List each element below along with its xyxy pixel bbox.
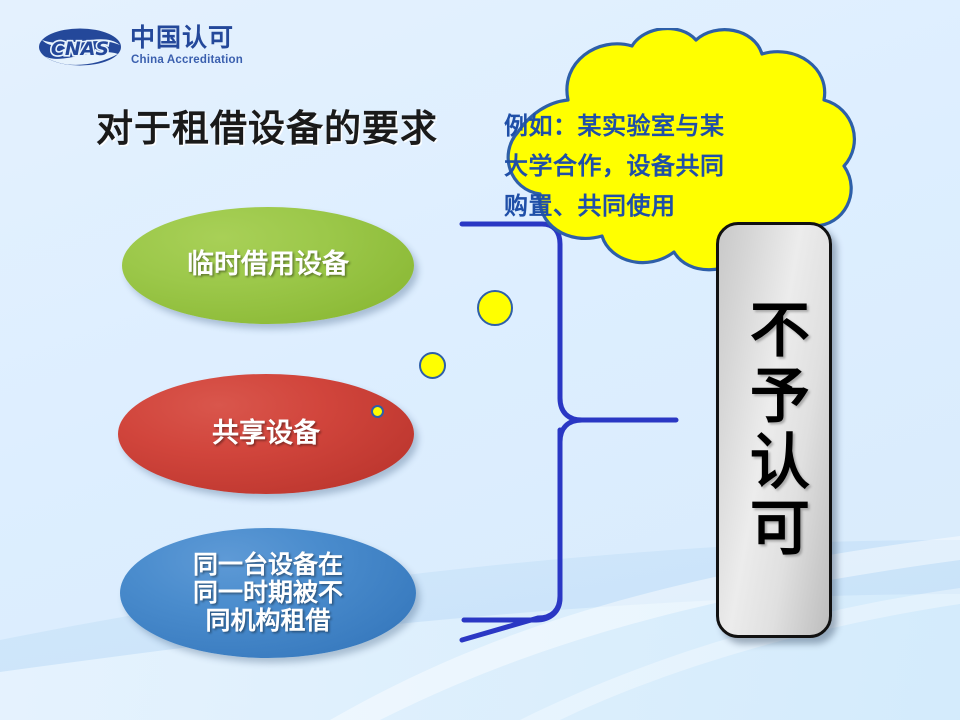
- bubble-same-equipment-different-orgs[interactable]: 同一台设备在 同一时期被不 同机构租借: [120, 528, 416, 658]
- bubble-label: 临时借用设备: [187, 250, 349, 280]
- bubble-line: 同一时期被不: [193, 578, 343, 607]
- bubble-shared-equipment[interactable]: 共享设备: [118, 374, 414, 494]
- bubble-line: 同一台设备在: [193, 550, 343, 579]
- bubble-line: 同机构租借: [205, 606, 330, 635]
- cnas-logo: CNAS 中国认可 China Accreditation: [36, 24, 236, 72]
- callout-tail-dot-medium: [419, 352, 446, 379]
- slide-canvas: CNAS 中国认可 China Accreditation 对于租借设备的要求 …: [0, 0, 960, 720]
- cnas-logo-mark: CNAS: [36, 26, 124, 68]
- callout-tail-dot-small: [371, 405, 384, 418]
- cloud-line: 例如：某实验室与某: [504, 106, 810, 146]
- page-title: 对于租借设备的要求: [96, 98, 438, 152]
- cloud-line: 购置、共同使用: [504, 186, 810, 226]
- bubble-temporary-borrow[interactable]: 临时借用设备: [122, 207, 414, 324]
- callout-tail-dot-large: [477, 290, 513, 326]
- svg-text:CNAS: CNAS: [51, 38, 109, 60]
- cloud-callout-text: 例如：某实验室与某 大学合作，设备共同 购置、共同使用: [504, 106, 810, 226]
- cloud-line: 大学合作，设备共同: [504, 146, 810, 186]
- logo-chinese-name: 中国认可: [130, 24, 234, 52]
- result-box[interactable]: 不予认可: [716, 222, 832, 638]
- bubble-label: 共享设备: [212, 419, 320, 449]
- result-label: 不予认可: [739, 298, 810, 562]
- logo-english-name: China Accreditation: [131, 54, 243, 66]
- bubble-label-multiline: 同一台设备在 同一时期被不 同机构租借: [193, 551, 343, 635]
